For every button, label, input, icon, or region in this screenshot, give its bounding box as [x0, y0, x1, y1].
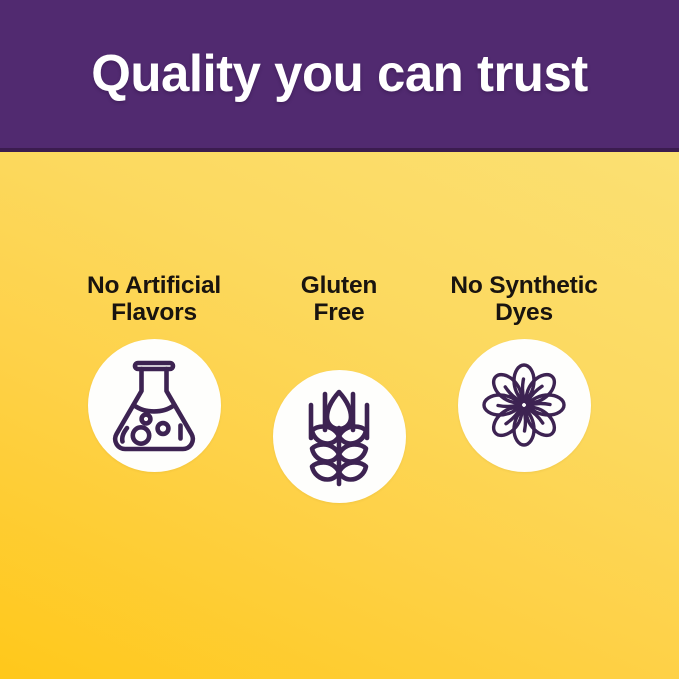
flask-icon [108, 357, 200, 453]
badge-circle-no-synthetic-dyes [458, 339, 591, 472]
badge-circle-no-artificial-flavors [88, 339, 221, 472]
badge-row: No Artificial Flavors [0, 272, 679, 502]
badge-no-synthetic-dyes: No Synthetic Dyes [424, 272, 624, 472]
badge-label-no-artificial-flavors: No Artificial Flavors [54, 272, 254, 327]
flower-burst-icon [474, 355, 574, 455]
badge-gluten-free: Gluten Free [239, 272, 439, 503]
product-claims-banner: Quality you can trust No Artificial Flav… [0, 0, 679, 679]
wheat-icon [299, 384, 379, 488]
badge-label-no-synthetic-dyes: No Synthetic Dyes [424, 272, 624, 327]
badge-no-artificial-flavors: No Artificial Flavors [54, 272, 254, 472]
page-title: Quality you can trust [7, 0, 672, 148]
badge-circle-gluten-free [273, 370, 406, 503]
badge-label-gluten-free: Gluten Free [239, 272, 439, 327]
